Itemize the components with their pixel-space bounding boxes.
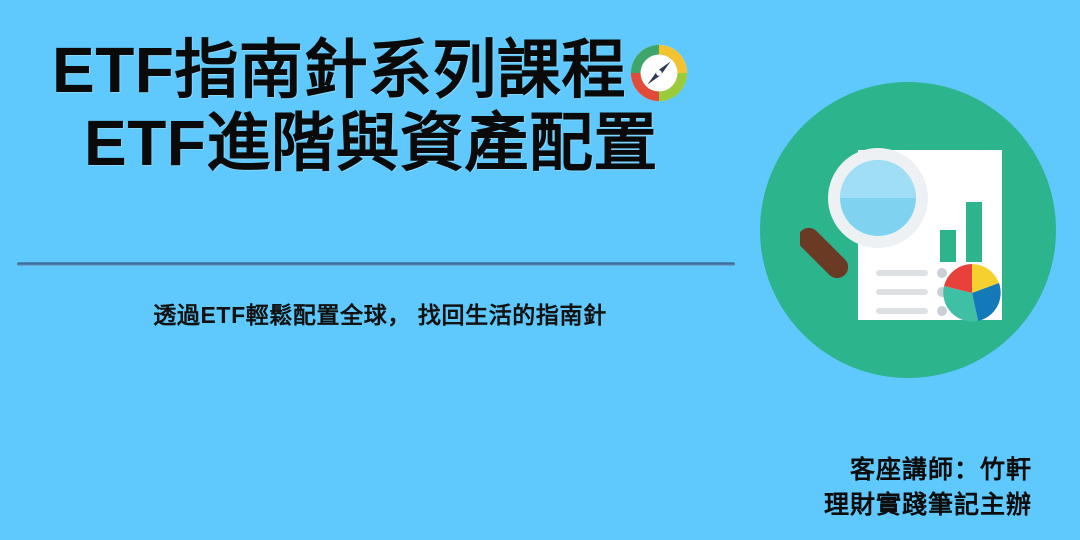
credits-block: 客座講師：竹軒 理財實踐筆記主辦: [824, 453, 1032, 522]
compass-icon: [628, 42, 690, 104]
divider: [17, 262, 735, 266]
title-line-1-row: ETF指南針系列課程: [0, 36, 760, 105]
instructor-label: 客座講師：竹軒: [824, 453, 1032, 488]
page-title-line-2: ETF進階與資產配置: [84, 109, 658, 178]
subtitle: 透過ETF輕鬆配置全球， 找回生活的指南針: [0, 296, 760, 330]
bar-chart-icon: [940, 230, 956, 262]
organizer-label: 理財實踐筆記主辦: [824, 488, 1032, 523]
page-title-line-1: ETF指南針系列課程: [52, 36, 626, 105]
pie-chart-icon: [943, 264, 1000, 322]
course-banner: ETF指南針系列課程 ETF進階與資產配置: [0, 0, 1080, 540]
headline-block: ETF指南針系列課程 ETF進階與資產配置: [0, 36, 760, 178]
title-line-2-row: ETF進階與資產配置: [0, 109, 760, 178]
report-analysis-icon: [800, 130, 1020, 330]
